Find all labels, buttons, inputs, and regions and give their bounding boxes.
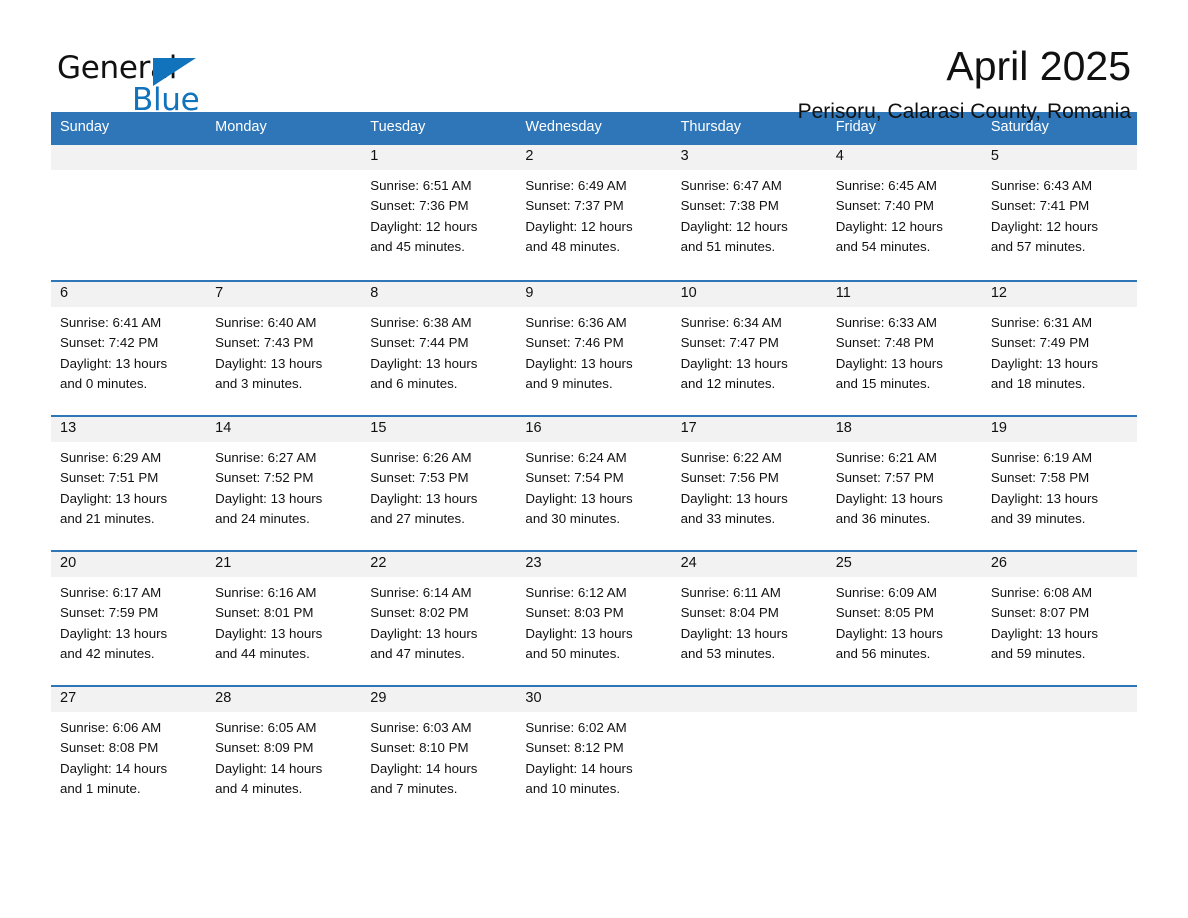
- day-daylight2-text: and 48 minutes.: [525, 237, 662, 257]
- weekday-thursday: Thursday: [672, 112, 827, 145]
- day-daylight2-text: and 44 minutes.: [215, 644, 352, 664]
- day-cell[interactable]: 7Sunrise: 6:40 AMSunset: 7:43 PMDaylight…: [206, 282, 361, 415]
- day-cell[interactable]: 30Sunrise: 6:02 AMSunset: 8:12 PMDayligh…: [516, 687, 671, 820]
- day-details: Sunrise: 6:51 AMSunset: 7:36 PMDaylight:…: [361, 170, 516, 257]
- day-details: Sunrise: 6:14 AMSunset: 8:02 PMDaylight:…: [361, 577, 516, 664]
- day-sunrise-text: Sunrise: 6:03 AM: [370, 718, 507, 738]
- day-daylight1-text: Daylight: 13 hours: [215, 624, 352, 644]
- day-cell[interactable]: 3Sunrise: 6:47 AMSunset: 7:38 PMDaylight…: [672, 145, 827, 280]
- day-sunrise-text: Sunrise: 6:26 AM: [370, 448, 507, 468]
- day-sunrise-text: Sunrise: 6:16 AM: [215, 583, 352, 603]
- day-daylight2-text: and 24 minutes.: [215, 509, 352, 529]
- day-details: Sunrise: 6:16 AMSunset: 8:01 PMDaylight:…: [206, 577, 361, 664]
- day-details: Sunrise: 6:12 AMSunset: 8:03 PMDaylight:…: [516, 577, 671, 664]
- day-daylight1-text: Daylight: 13 hours: [681, 354, 818, 374]
- day-number: 17: [672, 417, 827, 442]
- day-details: Sunrise: 6:43 AMSunset: 7:41 PMDaylight:…: [982, 170, 1137, 257]
- week-row: 20Sunrise: 6:17 AMSunset: 7:59 PMDayligh…: [51, 550, 1137, 685]
- day-number: 10: [672, 282, 827, 307]
- day-number: 23: [516, 552, 671, 577]
- calendar-page: General Blue April 2025 Perisoru, Calara…: [0, 0, 1188, 918]
- day-daylight2-text: and 1 minute.: [60, 779, 197, 799]
- day-number: 25: [827, 552, 982, 577]
- day-details: Sunrise: 6:47 AMSunset: 7:38 PMDaylight:…: [672, 170, 827, 257]
- day-sunset-text: Sunset: 7:38 PM: [681, 196, 818, 216]
- day-cell[interactable]: 11Sunrise: 6:33 AMSunset: 7:48 PMDayligh…: [827, 282, 982, 415]
- day-sunset-text: Sunset: 7:53 PM: [370, 468, 507, 488]
- day-daylight1-text: Daylight: 13 hours: [681, 489, 818, 509]
- day-cell[interactable]: 16Sunrise: 6:24 AMSunset: 7:54 PMDayligh…: [516, 417, 671, 550]
- day-daylight1-text: Daylight: 13 hours: [991, 489, 1128, 509]
- day-cell[interactable]: 1Sunrise: 6:51 AMSunset: 7:36 PMDaylight…: [361, 145, 516, 280]
- day-sunrise-text: Sunrise: 6:31 AM: [991, 313, 1128, 333]
- day-number: 7: [206, 282, 361, 307]
- day-daylight1-text: Daylight: 13 hours: [525, 624, 662, 644]
- day-details: Sunrise: 6:31 AMSunset: 7:49 PMDaylight:…: [982, 307, 1137, 394]
- day-number: 24: [672, 552, 827, 577]
- day-sunrise-text: Sunrise: 6:05 AM: [215, 718, 352, 738]
- day-daylight1-text: Daylight: 13 hours: [370, 354, 507, 374]
- day-number: 5: [982, 145, 1137, 170]
- day-sunset-text: Sunset: 7:58 PM: [991, 468, 1128, 488]
- day-details: Sunrise: 6:11 AMSunset: 8:04 PMDaylight:…: [672, 577, 827, 664]
- day-daylight2-text: and 3 minutes.: [215, 374, 352, 394]
- day-daylight2-text: and 7 minutes.: [370, 779, 507, 799]
- day-number: 27: [51, 687, 206, 712]
- logo-text-blue: Blue: [132, 85, 199, 116]
- day-cell[interactable]: 6Sunrise: 6:41 AMSunset: 7:42 PMDaylight…: [51, 282, 206, 415]
- day-cell[interactable]: 27Sunrise: 6:06 AMSunset: 8:08 PMDayligh…: [51, 687, 206, 820]
- day-number: 15: [361, 417, 516, 442]
- day-sunset-text: Sunset: 7:37 PM: [525, 196, 662, 216]
- day-cell[interactable]: 14Sunrise: 6:27 AMSunset: 7:52 PMDayligh…: [206, 417, 361, 550]
- weekday-saturday: Saturday: [982, 112, 1137, 145]
- day-number: 29: [361, 687, 516, 712]
- day-number: 22: [361, 552, 516, 577]
- day-daylight1-text: Daylight: 13 hours: [370, 624, 507, 644]
- day-cell[interactable]: 25Sunrise: 6:09 AMSunset: 8:05 PMDayligh…: [827, 552, 982, 685]
- day-cell[interactable]: 29Sunrise: 6:03 AMSunset: 8:10 PMDayligh…: [361, 687, 516, 820]
- day-sunrise-text: Sunrise: 6:40 AM: [215, 313, 352, 333]
- day-daylight2-text: and 36 minutes.: [836, 509, 973, 529]
- day-details: Sunrise: 6:22 AMSunset: 7:56 PMDaylight:…: [672, 442, 827, 529]
- day-details: Sunrise: 6:26 AMSunset: 7:53 PMDaylight:…: [361, 442, 516, 529]
- day-daylight1-text: Daylight: 13 hours: [60, 354, 197, 374]
- day-number: 26: [982, 552, 1137, 577]
- day-number: 2: [516, 145, 671, 170]
- day-number: 21: [206, 552, 361, 577]
- day-number: 8: [361, 282, 516, 307]
- day-cell[interactable]: 24Sunrise: 6:11 AMSunset: 8:04 PMDayligh…: [672, 552, 827, 685]
- day-cell-empty: [982, 687, 1137, 820]
- day-daylight1-text: Daylight: 12 hours: [836, 217, 973, 237]
- page-title: April 2025: [798, 45, 1131, 88]
- day-sunrise-text: Sunrise: 6:22 AM: [681, 448, 818, 468]
- day-details: Sunrise: 6:38 AMSunset: 7:44 PMDaylight:…: [361, 307, 516, 394]
- day-number: 12: [982, 282, 1137, 307]
- day-details: Sunrise: 6:09 AMSunset: 8:05 PMDaylight:…: [827, 577, 982, 664]
- day-details: Sunrise: 6:27 AMSunset: 7:52 PMDaylight:…: [206, 442, 361, 529]
- day-sunrise-text: Sunrise: 6:29 AM: [60, 448, 197, 468]
- day-sunrise-text: Sunrise: 6:02 AM: [525, 718, 662, 738]
- day-cell[interactable]: 28Sunrise: 6:05 AMSunset: 8:09 PMDayligh…: [206, 687, 361, 820]
- day-cell[interactable]: 2Sunrise: 6:49 AMSunset: 7:37 PMDaylight…: [516, 145, 671, 280]
- day-daylight1-text: Daylight: 13 hours: [370, 489, 507, 509]
- day-details: Sunrise: 6:36 AMSunset: 7:46 PMDaylight:…: [516, 307, 671, 394]
- day-sunrise-text: Sunrise: 6:14 AM: [370, 583, 507, 603]
- day-details: Sunrise: 6:33 AMSunset: 7:48 PMDaylight:…: [827, 307, 982, 394]
- day-daylight2-text: and 39 minutes.: [991, 509, 1128, 529]
- day-sunset-text: Sunset: 7:48 PM: [836, 333, 973, 353]
- day-sunrise-text: Sunrise: 6:11 AM: [681, 583, 818, 603]
- day-sunrise-text: Sunrise: 6:38 AM: [370, 313, 507, 333]
- day-daylight2-text: and 12 minutes.: [681, 374, 818, 394]
- day-daylight1-text: Daylight: 12 hours: [991, 217, 1128, 237]
- day-daylight1-text: Daylight: 13 hours: [525, 354, 662, 374]
- day-sunrise-text: Sunrise: 6:43 AM: [991, 176, 1128, 196]
- day-sunrise-text: Sunrise: 6:49 AM: [525, 176, 662, 196]
- day-sunset-text: Sunset: 7:36 PM: [370, 196, 507, 216]
- day-sunset-text: Sunset: 7:49 PM: [991, 333, 1128, 353]
- day-sunset-text: Sunset: 7:51 PM: [60, 468, 197, 488]
- day-cell[interactable]: 19Sunrise: 6:19 AMSunset: 7:58 PMDayligh…: [982, 417, 1137, 550]
- day-cell[interactable]: 20Sunrise: 6:17 AMSunset: 7:59 PMDayligh…: [51, 552, 206, 685]
- day-sunset-text: Sunset: 7:57 PM: [836, 468, 973, 488]
- day-sunrise-text: Sunrise: 6:27 AM: [215, 448, 352, 468]
- day-daylight2-text: and 59 minutes.: [991, 644, 1128, 664]
- day-sunrise-text: Sunrise: 6:17 AM: [60, 583, 197, 603]
- day-sunset-text: Sunset: 7:46 PM: [525, 333, 662, 353]
- calendar-body: 1Sunrise: 6:51 AMSunset: 7:36 PMDaylight…: [51, 145, 1137, 820]
- weekday-monday: Monday: [206, 112, 361, 145]
- day-cell[interactable]: 12Sunrise: 6:31 AMSunset: 7:49 PMDayligh…: [982, 282, 1137, 415]
- day-sunrise-text: Sunrise: 6:19 AM: [991, 448, 1128, 468]
- day-cell[interactable]: 17Sunrise: 6:22 AMSunset: 7:56 PMDayligh…: [672, 417, 827, 550]
- day-sunset-text: Sunset: 8:08 PM: [60, 738, 197, 758]
- day-sunset-text: Sunset: 8:10 PM: [370, 738, 507, 758]
- day-daylight1-text: Daylight: 13 hours: [215, 354, 352, 374]
- day-daylight2-text: and 33 minutes.: [681, 509, 818, 529]
- day-daylight1-text: Daylight: 13 hours: [60, 624, 197, 644]
- day-sunrise-text: Sunrise: 6:34 AM: [681, 313, 818, 333]
- day-details: Sunrise: 6:40 AMSunset: 7:43 PMDaylight:…: [206, 307, 361, 394]
- day-number: [672, 687, 827, 712]
- day-cell[interactable]: 26Sunrise: 6:08 AMSunset: 8:07 PMDayligh…: [982, 552, 1137, 685]
- day-sunrise-text: Sunrise: 6:12 AM: [525, 583, 662, 603]
- day-daylight1-text: Daylight: 13 hours: [215, 489, 352, 509]
- day-sunset-text: Sunset: 7:42 PM: [60, 333, 197, 353]
- day-details: Sunrise: 6:08 AMSunset: 8:07 PMDaylight:…: [982, 577, 1137, 664]
- day-sunset-text: Sunset: 8:04 PM: [681, 603, 818, 623]
- day-number: 20: [51, 552, 206, 577]
- day-cell[interactable]: 18Sunrise: 6:21 AMSunset: 7:57 PMDayligh…: [827, 417, 982, 550]
- day-number: 18: [827, 417, 982, 442]
- day-cell[interactable]: 8Sunrise: 6:38 AMSunset: 7:44 PMDaylight…: [361, 282, 516, 415]
- general-blue-logo[interactable]: General Blue: [57, 45, 207, 115]
- day-number: 16: [516, 417, 671, 442]
- day-sunrise-text: Sunrise: 6:47 AM: [681, 176, 818, 196]
- day-cell[interactable]: 4Sunrise: 6:45 AMSunset: 7:40 PMDaylight…: [827, 145, 982, 280]
- day-sunset-text: Sunset: 8:05 PM: [836, 603, 973, 623]
- day-daylight2-text: and 50 minutes.: [525, 644, 662, 664]
- day-daylight2-text: and 47 minutes.: [370, 644, 507, 664]
- day-daylight2-text: and 27 minutes.: [370, 509, 507, 529]
- day-sunrise-text: Sunrise: 6:21 AM: [836, 448, 973, 468]
- day-daylight2-text: and 54 minutes.: [836, 237, 973, 257]
- day-cell[interactable]: 10Sunrise: 6:34 AMSunset: 7:47 PMDayligh…: [672, 282, 827, 415]
- day-sunrise-text: Sunrise: 6:51 AM: [370, 176, 507, 196]
- day-number: 1: [361, 145, 516, 170]
- day-number: [51, 145, 206, 170]
- week-row: 6Sunrise: 6:41 AMSunset: 7:42 PMDaylight…: [51, 280, 1137, 415]
- day-daylight2-text: and 45 minutes.: [370, 237, 507, 257]
- weekday-friday: Friday: [827, 112, 982, 145]
- day-daylight1-text: Daylight: 14 hours: [370, 759, 507, 779]
- day-daylight2-text: and 57 minutes.: [991, 237, 1128, 257]
- day-daylight2-text: and 42 minutes.: [60, 644, 197, 664]
- day-details: Sunrise: 6:29 AMSunset: 7:51 PMDaylight:…: [51, 442, 206, 529]
- day-daylight1-text: Daylight: 13 hours: [836, 489, 973, 509]
- day-daylight2-text: and 53 minutes.: [681, 644, 818, 664]
- weekday-wednesday: Wednesday: [516, 112, 671, 145]
- day-details: Sunrise: 6:41 AMSunset: 7:42 PMDaylight:…: [51, 307, 206, 394]
- day-cell-empty: [206, 145, 361, 280]
- day-sunrise-text: Sunrise: 6:41 AM: [60, 313, 197, 333]
- day-cell[interactable]: 13Sunrise: 6:29 AMSunset: 7:51 PMDayligh…: [51, 417, 206, 550]
- day-number: 4: [827, 145, 982, 170]
- day-daylight1-text: Daylight: 14 hours: [215, 759, 352, 779]
- day-number: 11: [827, 282, 982, 307]
- day-daylight1-text: Daylight: 12 hours: [525, 217, 662, 237]
- day-details: Sunrise: 6:49 AMSunset: 7:37 PMDaylight:…: [516, 170, 671, 257]
- day-sunset-text: Sunset: 7:54 PM: [525, 468, 662, 488]
- day-number: 6: [51, 282, 206, 307]
- day-number: [827, 687, 982, 712]
- day-cell-empty: [51, 145, 206, 280]
- day-daylight2-text: and 21 minutes.: [60, 509, 197, 529]
- day-daylight1-text: Daylight: 13 hours: [991, 354, 1128, 374]
- day-cell[interactable]: 15Sunrise: 6:26 AMSunset: 7:53 PMDayligh…: [361, 417, 516, 550]
- day-cell[interactable]: 23Sunrise: 6:12 AMSunset: 8:03 PMDayligh…: [516, 552, 671, 685]
- day-sunset-text: Sunset: 8:02 PM: [370, 603, 507, 623]
- weekday-tuesday: Tuesday: [361, 112, 516, 145]
- day-cell[interactable]: 22Sunrise: 6:14 AMSunset: 8:02 PMDayligh…: [361, 552, 516, 685]
- day-daylight2-text: and 9 minutes.: [525, 374, 662, 394]
- day-sunset-text: Sunset: 7:43 PM: [215, 333, 352, 353]
- day-daylight2-text: and 0 minutes.: [60, 374, 197, 394]
- day-daylight1-text: Daylight: 13 hours: [836, 624, 973, 644]
- week-row: 1Sunrise: 6:51 AMSunset: 7:36 PMDaylight…: [51, 145, 1137, 280]
- day-sunset-text: Sunset: 7:47 PM: [681, 333, 818, 353]
- day-cell[interactable]: 21Sunrise: 6:16 AMSunset: 8:01 PMDayligh…: [206, 552, 361, 685]
- day-daylight2-text: and 18 minutes.: [991, 374, 1128, 394]
- day-number: [982, 687, 1137, 712]
- day-daylight1-text: Daylight: 12 hours: [681, 217, 818, 237]
- day-daylight1-text: Daylight: 14 hours: [525, 759, 662, 779]
- day-daylight2-text: and 30 minutes.: [525, 509, 662, 529]
- day-sunset-text: Sunset: 7:40 PM: [836, 196, 973, 216]
- day-sunrise-text: Sunrise: 6:36 AM: [525, 313, 662, 333]
- day-daylight1-text: Daylight: 13 hours: [991, 624, 1128, 644]
- day-number: 30: [516, 687, 671, 712]
- day-sunset-text: Sunset: 8:09 PM: [215, 738, 352, 758]
- day-daylight1-text: Daylight: 13 hours: [60, 489, 197, 509]
- day-sunset-text: Sunset: 8:03 PM: [525, 603, 662, 623]
- week-row: 13Sunrise: 6:29 AMSunset: 7:51 PMDayligh…: [51, 415, 1137, 550]
- day-daylight2-text: and 10 minutes.: [525, 779, 662, 799]
- day-daylight1-text: Daylight: 14 hours: [60, 759, 197, 779]
- day-sunrise-text: Sunrise: 6:33 AM: [836, 313, 973, 333]
- day-number: 19: [982, 417, 1137, 442]
- day-sunrise-text: Sunrise: 6:09 AM: [836, 583, 973, 603]
- day-details: Sunrise: 6:17 AMSunset: 7:59 PMDaylight:…: [51, 577, 206, 664]
- day-daylight1-text: Daylight: 13 hours: [525, 489, 662, 509]
- day-number: 3: [672, 145, 827, 170]
- day-number: [206, 145, 361, 170]
- calendar-table: Sunday Monday Tuesday Wednesday Thursday…: [51, 112, 1137, 820]
- day-sunrise-text: Sunrise: 6:24 AM: [525, 448, 662, 468]
- day-daylight2-text: and 15 minutes.: [836, 374, 973, 394]
- day-sunrise-text: Sunrise: 6:08 AM: [991, 583, 1128, 603]
- day-daylight2-text: and 6 minutes.: [370, 374, 507, 394]
- day-sunset-text: Sunset: 7:41 PM: [991, 196, 1128, 216]
- day-sunrise-text: Sunrise: 6:06 AM: [60, 718, 197, 738]
- day-sunset-text: Sunset: 7:59 PM: [60, 603, 197, 623]
- day-sunset-text: Sunset: 7:52 PM: [215, 468, 352, 488]
- day-cell-empty: [672, 687, 827, 820]
- day-sunset-text: Sunset: 8:01 PM: [215, 603, 352, 623]
- day-details: Sunrise: 6:34 AMSunset: 7:47 PMDaylight:…: [672, 307, 827, 394]
- day-details: Sunrise: 6:06 AMSunset: 8:08 PMDaylight:…: [51, 712, 206, 799]
- day-details: Sunrise: 6:03 AMSunset: 8:10 PMDaylight:…: [361, 712, 516, 799]
- day-daylight1-text: Daylight: 13 hours: [836, 354, 973, 374]
- day-number: 13: [51, 417, 206, 442]
- day-cell[interactable]: 5Sunrise: 6:43 AMSunset: 7:41 PMDaylight…: [982, 145, 1137, 280]
- week-row: 27Sunrise: 6:06 AMSunset: 8:08 PMDayligh…: [51, 685, 1137, 820]
- day-sunset-text: Sunset: 8:07 PM: [991, 603, 1128, 623]
- day-cell[interactable]: 9Sunrise: 6:36 AMSunset: 7:46 PMDaylight…: [516, 282, 671, 415]
- day-daylight2-text: and 56 minutes.: [836, 644, 973, 664]
- day-details: Sunrise: 6:02 AMSunset: 8:12 PMDaylight:…: [516, 712, 671, 799]
- day-sunset-text: Sunset: 8:12 PM: [525, 738, 662, 758]
- day-number: 9: [516, 282, 671, 307]
- weekday-header-row: Sunday Monday Tuesday Wednesday Thursday…: [51, 112, 1137, 145]
- day-details: Sunrise: 6:24 AMSunset: 7:54 PMDaylight:…: [516, 442, 671, 529]
- page-header: General Blue April 2025 Perisoru, Calara…: [0, 0, 1188, 112]
- day-details: Sunrise: 6:21 AMSunset: 7:57 PMDaylight:…: [827, 442, 982, 529]
- day-daylight1-text: Daylight: 12 hours: [370, 217, 507, 237]
- day-details: Sunrise: 6:19 AMSunset: 7:58 PMDaylight:…: [982, 442, 1137, 529]
- day-cell-empty: [827, 687, 982, 820]
- day-daylight2-text: and 4 minutes.: [215, 779, 352, 799]
- day-sunrise-text: Sunrise: 6:45 AM: [836, 176, 973, 196]
- day-details: Sunrise: 6:45 AMSunset: 7:40 PMDaylight:…: [827, 170, 982, 257]
- day-sunset-text: Sunset: 7:44 PM: [370, 333, 507, 353]
- day-details: Sunrise: 6:05 AMSunset: 8:09 PMDaylight:…: [206, 712, 361, 799]
- day-sunset-text: Sunset: 7:56 PM: [681, 468, 818, 488]
- day-daylight1-text: Daylight: 13 hours: [681, 624, 818, 644]
- day-daylight2-text: and 51 minutes.: [681, 237, 818, 257]
- day-number: 14: [206, 417, 361, 442]
- day-number: 28: [206, 687, 361, 712]
